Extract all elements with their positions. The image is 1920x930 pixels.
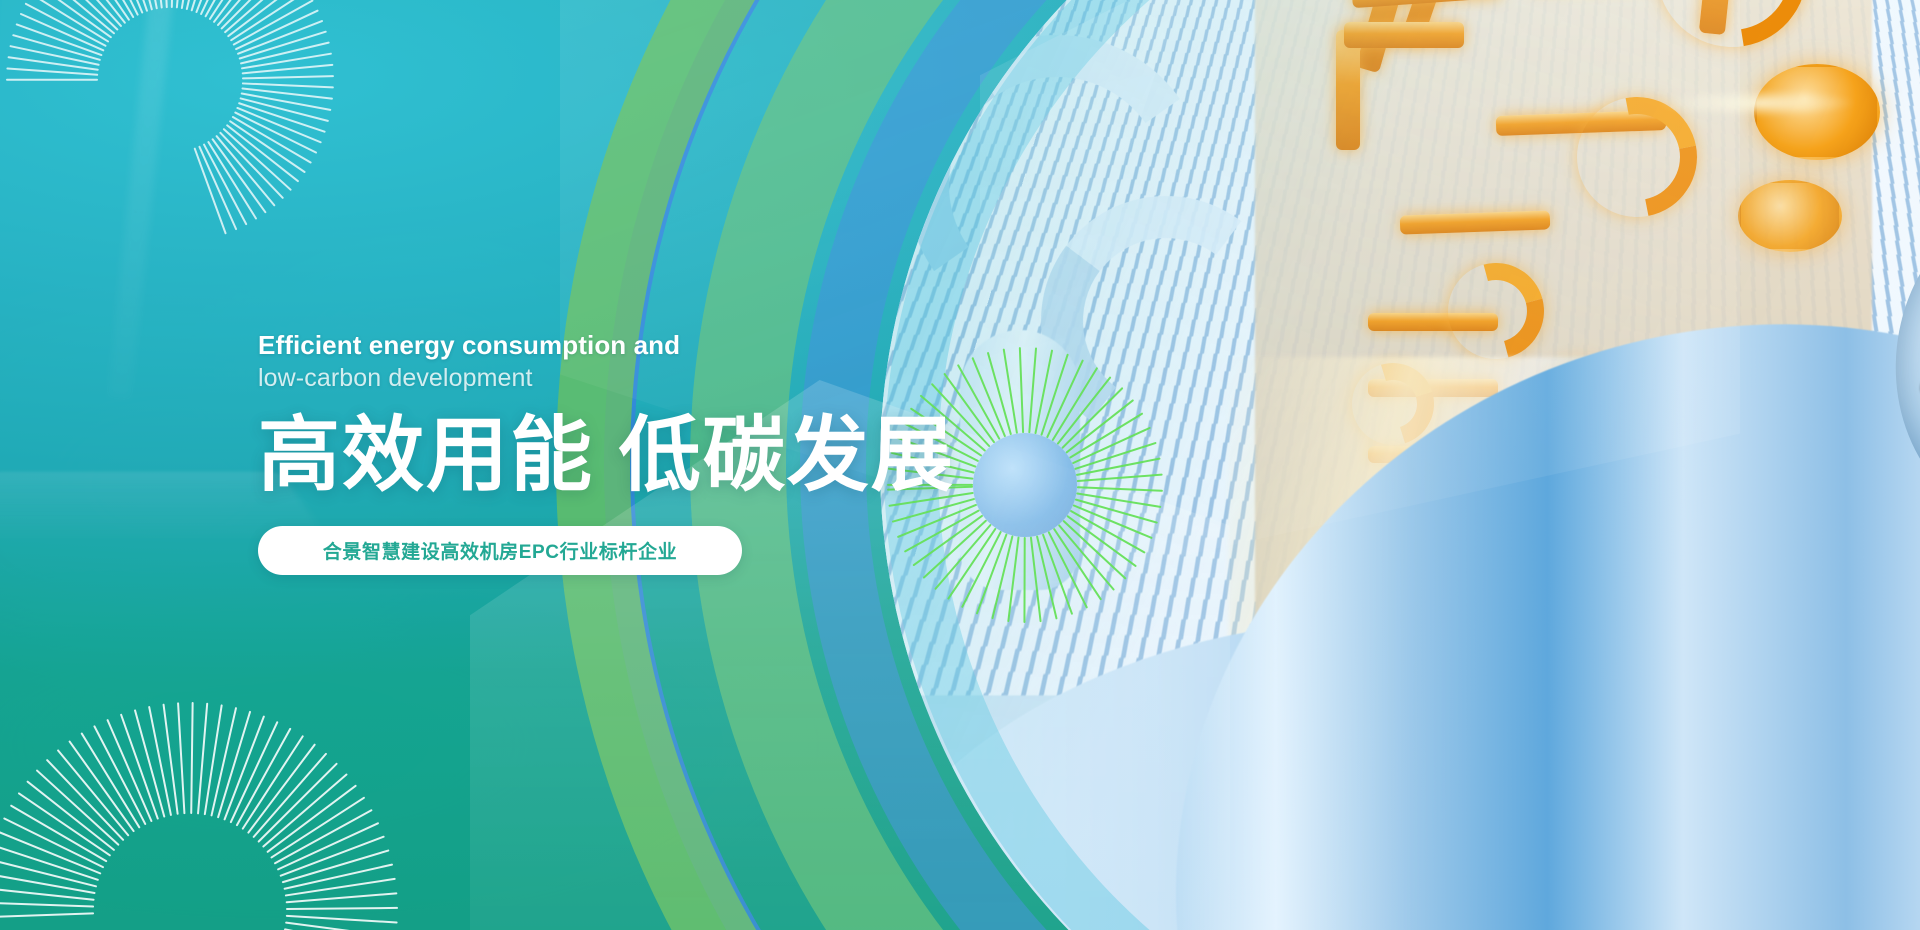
sunburst-ray: [286, 907, 398, 910]
cta-button[interactable]: 合景智慧建设高效机房EPC行业标杆企业: [258, 526, 742, 575]
sunburst-ray: [106, 719, 152, 823]
sunburst-bottom-left: [0, 690, 410, 930]
sunburst-ray: [237, 20, 323, 55]
sunburst-ray: [1028, 347, 1037, 433]
sunburst-ray: [1024, 537, 1026, 623]
sunburst-ray: [241, 87, 333, 99]
sunburst-ray: [285, 922, 396, 930]
hero-banner: Efficient energy consumption and low-car…: [0, 0, 1920, 930]
eyebrow-line-2: low-carbon development: [258, 362, 978, 394]
sunburst-ray: [1065, 399, 1134, 454]
sunburst-ray: [1003, 349, 1018, 434]
sunburst-ray: [286, 915, 398, 924]
sunburst-ray: [286, 892, 398, 903]
sunburst-center-disc: [973, 433, 1077, 537]
sunburst-ray: [242, 75, 334, 79]
sunburst-ray: [1058, 524, 1115, 591]
sunburst-ray: [1076, 492, 1161, 507]
sunburst-ray: [1077, 474, 1163, 482]
sunburst-top-left: [0, 0, 370, 280]
sunburst-ray: [190, 702, 193, 814]
hero-headline: 高效用能 低碳发展: [258, 412, 978, 501]
sunburst-ray: [162, 704, 178, 815]
sunburst-ray: [6, 68, 98, 76]
hero-copy-block: Efficient energy consumption and low-car…: [258, 330, 978, 575]
sunburst-ray: [6, 79, 98, 81]
cta-button-label: 合景智慧建设高效机房EPC行业标杆企业: [323, 537, 677, 564]
sunburst-ray: [177, 702, 185, 814]
sunburst-ray: [171, 0, 175, 8]
sunburst-ray: [1019, 347, 1024, 433]
sunburst-ray: [1077, 486, 1163, 491]
sunburst-ray: [0, 902, 94, 908]
sunburst-ray: [242, 82, 334, 88]
sunburst-ray: [0, 912, 94, 918]
sunburst-ray: [277, 822, 380, 871]
eyebrow-line-1: Efficient energy consumption and: [258, 330, 978, 362]
sunburst-ray: [1076, 457, 1161, 475]
sunburst-ray: [1062, 520, 1126, 580]
sunburst-ray: [194, 147, 227, 234]
